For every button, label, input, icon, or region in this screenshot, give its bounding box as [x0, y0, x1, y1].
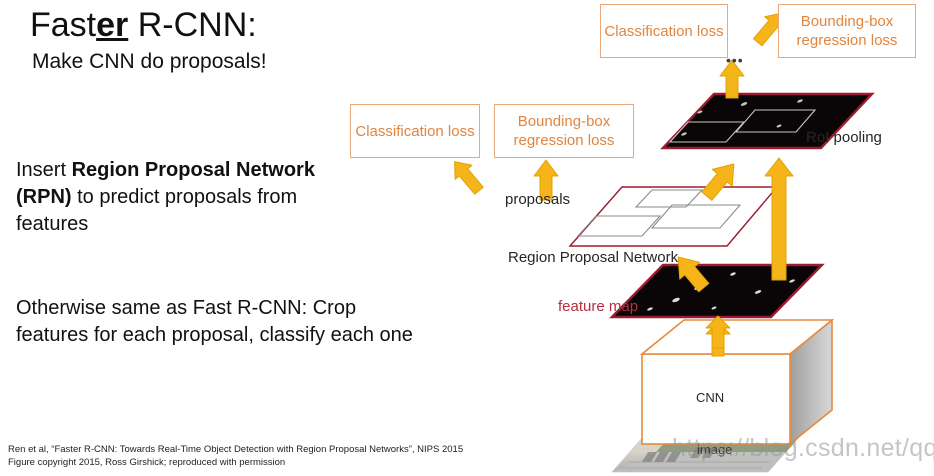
feature-map-label: feature map	[558, 298, 638, 315]
title-emphasis: er	[96, 6, 128, 44]
feature-map-plane	[612, 265, 822, 317]
bounding-box-regression-loss-box-top: Bounding-box regression loss	[778, 4, 916, 58]
bounding-box-regression-loss-box-mid: Bounding-box regression loss	[494, 104, 634, 158]
paragraph-1-lead: Insert	[16, 159, 72, 181]
rpn-plane	[570, 187, 777, 246]
rpn-label: Region Proposal Network	[508, 249, 678, 266]
classification-loss-box-mid: Classification loss	[350, 104, 480, 158]
classification-loss-box-top: Classification loss	[600, 4, 728, 58]
watermark: https://blog.csdn.net/qq_43711697	[672, 434, 934, 463]
citation-footnote: Ren et al, “Faster R-CNN: Towards Real-T…	[8, 443, 463, 469]
citation-line-1: Ren et al, “Faster R-CNN: Towards Real-T…	[8, 443, 463, 456]
cnn-label: CNN	[696, 390, 724, 405]
ellipsis-label: •••	[726, 52, 744, 68]
roi-pooling-label: RoI pooling	[806, 129, 882, 146]
slide-canvas: Faster R-CNN: Make CNN do proposals! Ins…	[0, 0, 934, 476]
proposals-label: proposals	[505, 191, 570, 208]
slide-subtitle: Make CNN do proposals!	[32, 50, 267, 74]
slide-title: Faster R-CNN:	[30, 6, 257, 45]
body-paragraph-2: Otherwise same as Fast R-CNN: Crop featu…	[16, 295, 416, 349]
body-paragraph-1: Insert Region Proposal Network (RPN) to …	[16, 157, 356, 238]
cnn-cube	[642, 320, 832, 444]
citation-line-2: Figure copyright 2015, Ross Girshick; re…	[8, 456, 463, 469]
arrow-rpn-to-classification-loss	[446, 155, 487, 198]
title-suffix: R-CNN:	[128, 6, 256, 44]
arrow-featuremap-to-roi	[765, 158, 793, 280]
title-prefix: Fast	[30, 6, 96, 44]
